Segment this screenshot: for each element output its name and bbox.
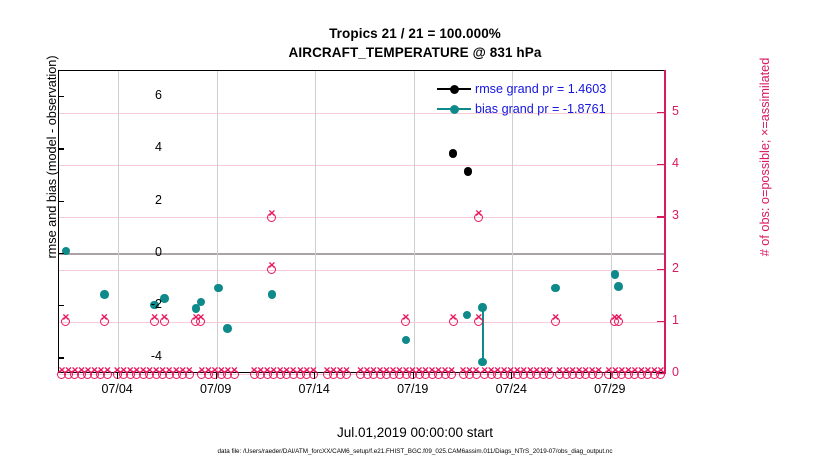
- gridline-horizontal: [59, 270, 664, 271]
- y-tick-mark-right: [657, 164, 664, 165]
- obs-count-marker: [473, 212, 484, 223]
- y-tick-mark-left: [58, 253, 64, 254]
- obs-count-marker: [448, 316, 459, 327]
- y-tick-mark-right: [657, 321, 664, 322]
- gridline-horizontal: [59, 217, 664, 218]
- y-tick-label-right: 1: [672, 313, 712, 327]
- obs-count-marker: [613, 316, 624, 327]
- y-tick-mark-right: [657, 373, 664, 374]
- page-title: Tropics 21 / 21 = 100.000% AIRCRAFT_TEMP…: [0, 24, 830, 62]
- bias-point: [268, 290, 277, 299]
- data-file-note: data file: /Users/raeder/DAI/ATM_forcXX/…: [0, 448, 830, 455]
- obs-count-marker: [266, 212, 277, 223]
- obs-count-marker: [60, 316, 71, 327]
- obs-count-marker: [550, 316, 561, 327]
- y-tick-label-right: 0: [672, 365, 712, 379]
- x-tick-mark: [216, 373, 217, 379]
- bias-legend-swatch: [437, 108, 471, 110]
- right-axis-spine: [664, 70, 666, 374]
- title-line-2: AIRCRAFT_TEMPERATURE @ 831 hPa: [0, 43, 830, 62]
- x-tick-mark: [314, 373, 315, 379]
- y-axis-label-right: # of obs: o=possible; ×=assimilated: [758, 0, 772, 322]
- obs-count-marker: [266, 264, 277, 275]
- gridline-vertical: [315, 71, 316, 372]
- obs-count-marker: [195, 316, 206, 327]
- obs-count-marker: [400, 316, 411, 327]
- x-tick-label: 07/09: [181, 382, 251, 396]
- bias-point: [614, 282, 623, 291]
- x-tick-mark: [610, 373, 611, 379]
- bias-point: [402, 336, 411, 345]
- bias-legend-marker: [450, 105, 459, 114]
- y-tick-label-right: 4: [672, 156, 712, 170]
- y-tick-label-left: 4: [122, 140, 162, 154]
- obs-count-marker: [473, 316, 484, 327]
- legend-item-bias[interactable]: bias grand pr = -1.8761: [437, 99, 652, 119]
- x-tick-mark: [117, 373, 118, 379]
- y-tick-label-right: 5: [672, 104, 712, 118]
- y-tick-label-left: -4: [122, 349, 162, 363]
- x-tick-label: 07/19: [378, 382, 448, 396]
- y-tick-mark-left: [58, 305, 64, 306]
- obs-count-marker: [159, 316, 170, 327]
- y-tick-label-left: -2: [122, 297, 162, 311]
- y-tick-mark-right: [657, 216, 664, 217]
- y-tick-label-left: 2: [122, 193, 162, 207]
- y-tick-mark-left: [58, 96, 64, 97]
- x-tick-label: 07/14: [279, 382, 349, 396]
- gridline-vertical: [118, 71, 119, 372]
- y-tick-mark-right: [657, 112, 664, 113]
- title-line-1: Tropics 21 / 21 = 100.000%: [0, 24, 830, 43]
- x-axis-label: Jul.01,2019 00:00:00 start: [0, 425, 830, 440]
- rmse-legend-marker: [450, 85, 459, 94]
- gridline-vertical: [414, 71, 415, 372]
- y-tick-label-left: 0: [122, 245, 162, 259]
- legend-label-rmse: rmse grand pr = 1.4603: [475, 79, 606, 99]
- x-tick-label: 07/04: [82, 382, 152, 396]
- bias-point: [551, 284, 560, 293]
- legend: rmse grand pr = 1.4603 bias grand pr = -…: [437, 79, 652, 119]
- y-tick-mark-left: [58, 201, 64, 202]
- bias-point: [100, 290, 109, 299]
- gridline-horizontal: [59, 165, 664, 166]
- bias-point: [214, 284, 223, 293]
- obs-count-marker: [184, 369, 195, 380]
- y-tick-mark-left: [58, 357, 64, 358]
- y-tick-label-right: 3: [672, 208, 712, 222]
- obs-count-marker: [229, 369, 240, 380]
- gridline-vertical: [217, 71, 218, 372]
- y-tick-label-right: 2: [672, 261, 712, 275]
- bias-point: [197, 298, 206, 307]
- y-tick-label-left: 6: [122, 88, 162, 102]
- rmse-point: [449, 149, 458, 158]
- x-tick-mark: [413, 373, 414, 379]
- y-axis-label-left: rmse and bias (model - observation): [45, 0, 59, 322]
- plot-canvas: Tropics 21 / 21 = 100.000% AIRCRAFT_TEMP…: [0, 0, 830, 470]
- obs-count-marker: [341, 369, 352, 380]
- bias-point: [223, 324, 232, 333]
- legend-item-rmse[interactable]: rmse grand pr = 1.4603: [437, 79, 652, 99]
- x-tick-label: 07/29: [575, 382, 645, 396]
- legend-label-bias: bias grand pr = -1.8761: [475, 99, 606, 119]
- obs-count-marker: [99, 316, 110, 327]
- rmse-point: [464, 167, 473, 176]
- rmse-legend-swatch: [437, 88, 471, 90]
- bias-point: [463, 311, 472, 320]
- obs-count-marker: [446, 369, 457, 380]
- x-tick-label: 07/24: [476, 382, 546, 396]
- y-tick-mark-left: [58, 148, 64, 149]
- y-tick-mark-right: [657, 269, 664, 270]
- x-tick-mark: [511, 373, 512, 379]
- bias-point: [611, 270, 620, 279]
